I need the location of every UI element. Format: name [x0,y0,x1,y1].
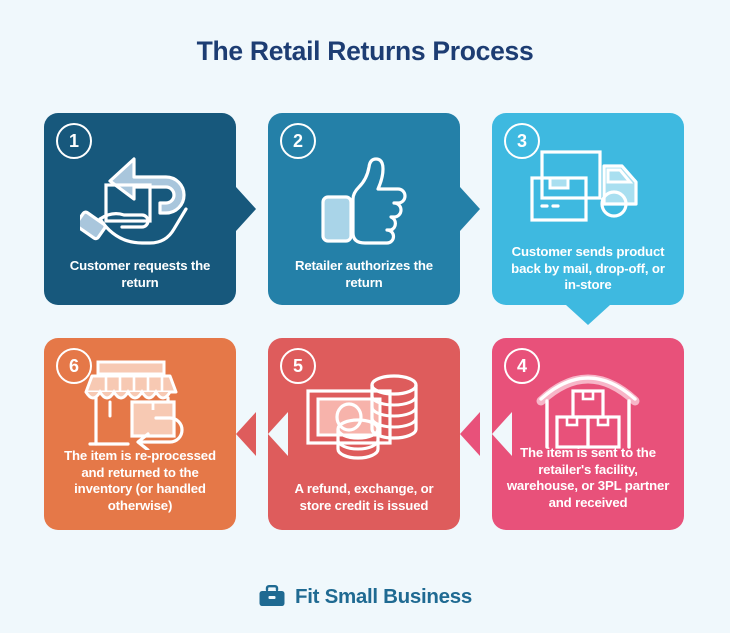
step-icon-6 [44,358,236,450]
arrow-step4-to-step5 [460,412,480,456]
step-icon-4 [492,362,684,454]
step-caption-2: Retailer authorizes the return [268,258,460,291]
delivery-truck-icon [526,146,650,230]
step-card-6: 6 The item is re-processed a [44,338,236,530]
step-card-1: 1 Customer requests the return [44,113,236,305]
arrow-step1-to-step2 [236,187,256,231]
step-icon-2 [268,143,460,255]
step-card-4: 4 The item is sent to the retailer's fac… [492,338,684,530]
hand-holding-package-return-icon [80,147,200,251]
footer-brand-text: Fit Small Business [295,585,472,609]
cash-and-coins-icon [302,371,426,465]
thumbs-up-icon [309,147,419,251]
step-card-3: 3 Customer sends product back by mail, d… [492,113,684,305]
storefront-with-return-box-icon [82,358,198,450]
step-icon-3 [492,139,684,237]
step-icon-5 [268,366,460,470]
briefcase-icon [258,585,286,609]
step-icon-1 [44,143,236,255]
arrow-step2-to-step3 [460,187,480,231]
arrow-step3-to-step4 [566,305,610,325]
step-caption-4: The item is sent to the retailer's facil… [492,445,684,512]
step-caption-5: A refund, exchange, or store credit is i… [268,481,460,514]
notch-step4-left [492,412,512,456]
step-caption-1: Customer requests the return [44,258,236,291]
notch-step5-left [268,412,288,456]
warehouse-boxes-icon [533,365,643,451]
step-caption-6: The item is re-processed and returned to… [44,448,236,515]
arrow-step5-to-step6 [236,412,256,456]
footer-logo[interactable]: Fit Small Business [0,585,730,609]
step-caption-3: Customer sends product back by mail, dro… [492,244,684,294]
step-card-2: 2 Retailer authorizes the return [268,113,460,305]
step-card-5: 5 A refund, exchange, or store credit is… [268,338,460,530]
page-title: The Retail Returns Process [0,36,730,67]
infographic-canvas: The Retail Returns Process 1 Customer re… [0,0,730,633]
